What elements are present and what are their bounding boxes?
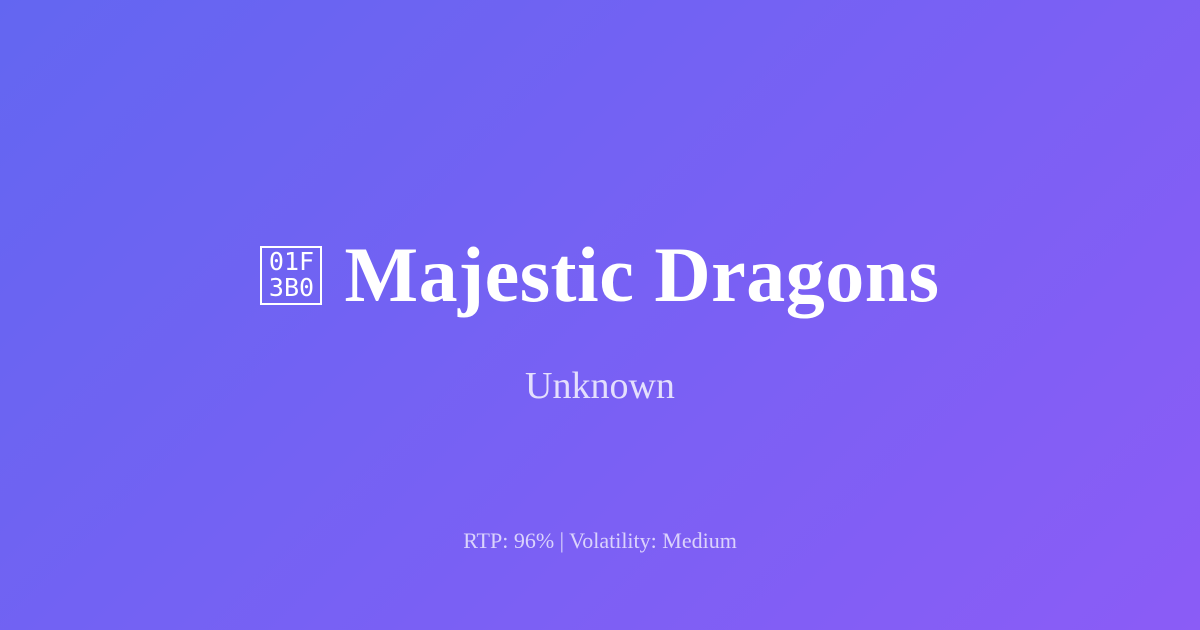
glyph-codepoint-top: 01F (269, 249, 314, 275)
slot-machine-icon: 01F 3B0 (260, 246, 322, 305)
game-provider-label: Unknown (0, 363, 1200, 409)
glyph-codepoint-bottom: 3B0 (269, 275, 314, 301)
game-hero-card: 01F 3B0 Majestic Dragons Unknown RTP: 96… (0, 0, 1200, 630)
page-title: Majestic Dragons (344, 232, 939, 318)
game-stats-line: RTP: 96% | Volatility: Medium (0, 527, 1200, 555)
title-row: 01F 3B0 Majestic Dragons (0, 232, 1200, 318)
